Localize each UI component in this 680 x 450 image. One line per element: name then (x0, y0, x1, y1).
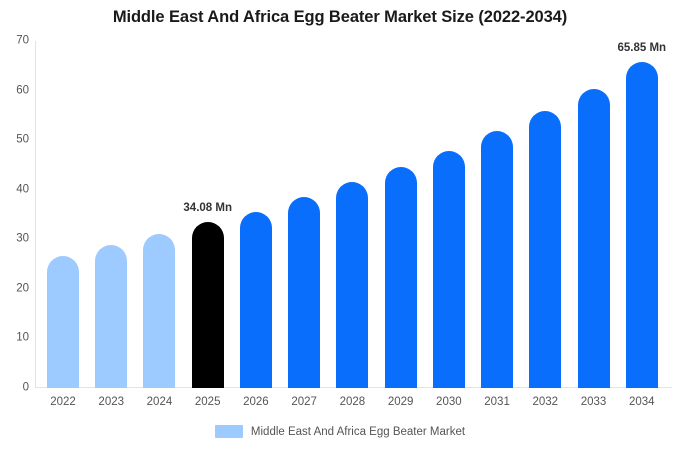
bar-slot (87, 41, 135, 388)
bar-2025[interactable] (192, 222, 224, 388)
bar-slot (280, 41, 328, 388)
x-axis-tick-label-2033: 2033 (570, 396, 618, 408)
plot-area: 34.08 Mn65.85 Mn (35, 41, 672, 388)
bar-2023[interactable] (95, 245, 127, 388)
y-axis-tick-label: 10 (3, 333, 29, 345)
y-axis-tick-label: 60 (3, 85, 29, 97)
bar-2028[interactable] (336, 182, 368, 388)
x-axis-tick-label-2024: 2024 (135, 396, 183, 408)
x-axis-tick-label-2022: 2022 (39, 396, 87, 408)
bar-2033[interactable] (578, 89, 610, 388)
bar-slot (521, 41, 569, 388)
y-axis-tick-label: 40 (3, 184, 29, 196)
chart-legend: Middle East And Africa Egg Beater Market (0, 425, 680, 438)
x-axis-tick-label-2027: 2027 (280, 396, 328, 408)
x-axis-tick-label-2031: 2031 (473, 396, 521, 408)
bar-2027[interactable] (288, 197, 320, 388)
bar-2034[interactable] (626, 62, 658, 388)
bar-slot (473, 41, 521, 388)
chart-title: Middle East And Africa Egg Beater Market… (0, 8, 680, 27)
bar-slot (377, 41, 425, 388)
x-axis-tick-label-2028: 2028 (328, 396, 376, 408)
bar-slot: 34.08 Mn (184, 41, 232, 388)
x-axis-tick-label-2029: 2029 (377, 396, 425, 408)
bar-2031[interactable] (481, 131, 513, 388)
bar-2032[interactable] (529, 111, 561, 388)
legend-swatch[interactable] (215, 425, 243, 438)
bar-2029[interactable] (385, 167, 417, 388)
x-axis-tick-label-2023: 2023 (87, 396, 135, 408)
bar-value-label-2025: 34.08 Mn (183, 202, 232, 214)
bar-slot (570, 41, 618, 388)
y-axis-tick-label: 70 (3, 35, 29, 47)
y-axis-tick-label: 0 (3, 382, 29, 394)
bar-slot (135, 41, 183, 388)
bar-chart: Middle East And Africa Egg Beater Market… (0, 0, 680, 450)
y-axis-tick-label: 50 (3, 134, 29, 146)
bar-2026[interactable] (240, 212, 272, 388)
bar-2024[interactable] (143, 234, 175, 388)
bar-slot (328, 41, 376, 388)
bars-layer: 34.08 Mn65.85 Mn (35, 41, 672, 388)
bar-slot (232, 41, 280, 388)
y-axis-tick-label: 30 (3, 234, 29, 246)
bar-value-label-2034: 65.85 Mn (617, 42, 666, 54)
x-axis-tick-label-2030: 2030 (425, 396, 473, 408)
x-axis-tick-label-2034: 2034 (618, 396, 666, 408)
x-axis-tick-label-2032: 2032 (521, 396, 569, 408)
bar-slot (425, 41, 473, 388)
y-axis-tick-label: 20 (3, 283, 29, 295)
bar-2022[interactable] (47, 256, 79, 388)
x-axis-tick-label-2025: 2025 (184, 396, 232, 408)
bar-slot (39, 41, 87, 388)
bar-2030[interactable] (433, 151, 465, 388)
bar-slot: 65.85 Mn (618, 41, 666, 388)
legend-label[interactable]: Middle East And Africa Egg Beater Market (251, 426, 465, 438)
x-axis-tick-label-2026: 2026 (232, 396, 280, 408)
